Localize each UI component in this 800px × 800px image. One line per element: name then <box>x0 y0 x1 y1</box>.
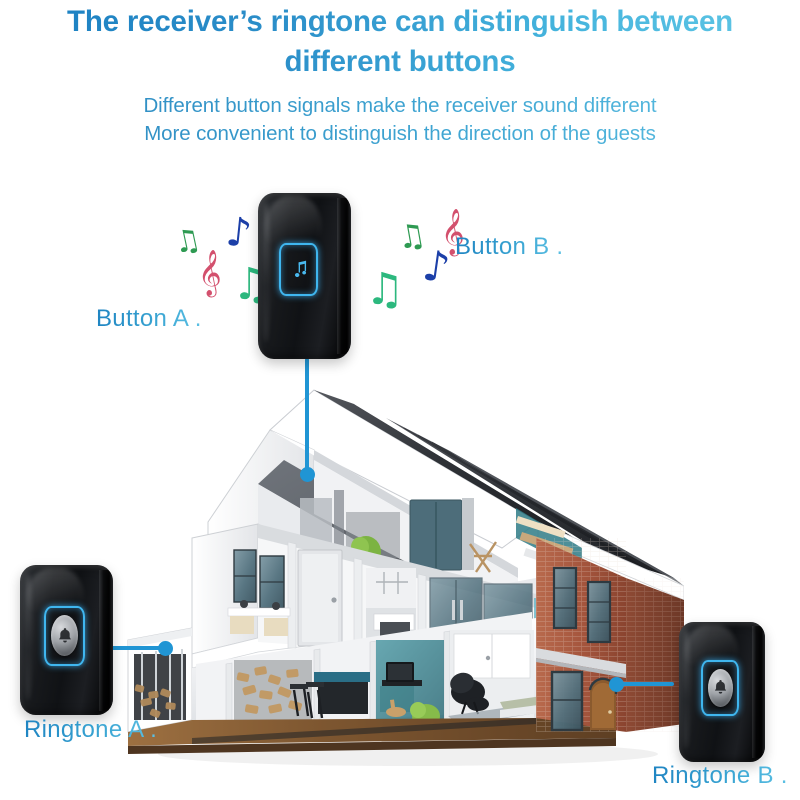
callout-label-button-b: Button B . <box>455 233 563 261</box>
connector-endpoint-dot <box>300 467 315 482</box>
ringtone-a-panel[interactable] <box>44 606 85 666</box>
page-title-line-1: The receiver’s ringtone can distinguish … <box>0 2 800 42</box>
music-notes-right-group: ♫𝄞♪♫ <box>365 210 480 325</box>
infographic-canvas: The receiver’s ringtone can distinguish … <box>0 0 800 800</box>
connector-line <box>305 358 309 475</box>
ringtone-b-device[interactable] <box>679 622 765 762</box>
music-note-glyph: ♫ <box>365 268 404 312</box>
page-title-line-2: different buttons <box>0 42 800 82</box>
callout-label-ringtone-b: Ringtone B . <box>652 762 788 790</box>
music-note-glyph: ♪ <box>420 244 452 289</box>
ringtone-b-panel[interactable] <box>701 660 739 716</box>
music-note-glyph: ♪ <box>224 212 254 254</box>
receiver-side-bevel <box>337 198 351 354</box>
receiver-panel[interactable] <box>279 243 318 296</box>
subtitle-line-2: More convenient to distinguish the direc… <box>0 120 800 148</box>
receiver-edge-highlight <box>262 203 270 342</box>
ringtone-a-edge-highlight <box>24 574 32 700</box>
ringtone-b-side-bevel <box>752 626 765 758</box>
music-notes-left-group: ♫♪𝄞♫ <box>160 205 270 320</box>
music-note-icon <box>288 258 310 280</box>
callout-label-button-a: Button A . <box>96 305 202 333</box>
music-note-glyph: 𝄞 <box>198 253 222 293</box>
header-block: The receiver’s ringtone can distinguish … <box>0 2 800 148</box>
bell-icon <box>711 678 730 697</box>
callout-label-ringtone-a: Ringtone A . <box>24 716 157 744</box>
connector-endpoint-dot <box>609 677 624 692</box>
house-cutaway-illustration <box>118 372 684 772</box>
connector-endpoint-dot <box>158 641 173 656</box>
ringtone-a-side-bevel <box>99 570 113 711</box>
subtitle-line-1: Different button signals make the receiv… <box>0 92 800 120</box>
bell-icon <box>55 626 75 646</box>
music-note-glyph: ♫ <box>394 218 428 254</box>
receiver-device[interactable] <box>258 193 351 359</box>
ringtone-a-device[interactable] <box>20 565 113 715</box>
connector-line <box>616 682 674 686</box>
